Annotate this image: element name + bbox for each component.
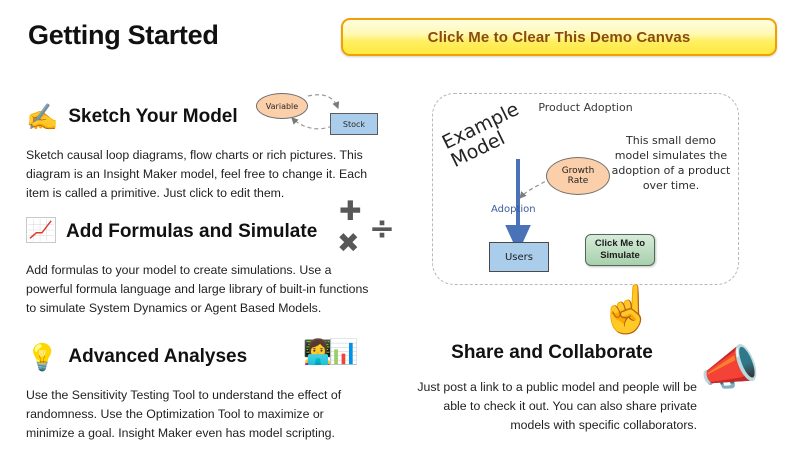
chart-line-icon	[26, 217, 56, 247]
feature-add-formulas-and-simulate: Add Formulas and Simulate Add formulas t…	[26, 215, 386, 318]
page-title: Getting Started	[28, 20, 219, 51]
simulate-label-line2: Simulate	[600, 250, 640, 262]
simulate-button[interactable]: Click Me to Simulate	[585, 234, 655, 266]
mini-diagram-stock-node[interactable]: Stock	[330, 113, 378, 135]
growth-rate-label-line1: Growth	[562, 166, 595, 176]
feature-formulas-body: Add formulas to your model to create sim…	[26, 261, 371, 318]
megaphone-icon: 📣	[700, 345, 760, 393]
pointing-up-hand-icon: ☝️	[598, 286, 655, 332]
writing-hand-icon: ✍️	[26, 104, 58, 130]
mini-diagram-stock-label: Stock	[343, 120, 365, 129]
mini-diagram-variable-label: Variable	[266, 102, 298, 111]
growth-rate-label-line2: Rate	[568, 176, 589, 186]
clear-demo-canvas-button[interactable]: Click Me to Clear This Demo Canvas	[341, 18, 777, 56]
divide-icon: ÷	[369, 214, 395, 245]
clear-demo-canvas-label: Click Me to Clear This Demo Canvas	[428, 29, 691, 46]
users-stock-label: Users	[505, 252, 533, 263]
feature-sketch-body: Sketch causal loop diagrams, flow charts…	[26, 146, 371, 203]
adoption-flow-label: Adoption	[491, 204, 536, 215]
model-canvas[interactable]: Product Adoption Example Model This smal…	[432, 93, 739, 285]
feature-analyses-body: Use the Sensitivity Testing Tool to unde…	[26, 386, 371, 443]
mini-sketch-diagram: Variable Stock	[250, 88, 380, 143]
feature-share-title: Share and Collaborate	[407, 342, 697, 364]
cloud-source-icon: ☁	[505, 144, 523, 162]
growth-rate-variable-node[interactable]: Growth Rate	[546, 157, 610, 195]
math-symbols-group: ✚ ✖ ÷	[333, 198, 403, 260]
simulate-label-line1: Click Me to	[595, 238, 645, 250]
plus-icon: ✚	[339, 198, 362, 225]
feature-formulas-header: Add Formulas and Simulate	[26, 215, 386, 249]
times-icon: ✖	[337, 230, 360, 257]
feature-analyses-title: Advanced Analyses	[68, 346, 247, 368]
users-stock-node[interactable]: Users	[489, 242, 549, 272]
mini-diagram-variable-node[interactable]: Variable	[256, 93, 308, 119]
model-canvas-title: Product Adoption	[433, 101, 738, 114]
lightbulb-icon: 💡	[26, 344, 58, 370]
model-description-text: This small demo model simulates the adop…	[611, 134, 731, 193]
person-at-computer-icon: 👩‍💻	[303, 339, 329, 366]
feature-share-and-collaborate: Share and Collaborate Just post a link t…	[407, 342, 697, 435]
feature-share-body: Just post a link to a public model and p…	[407, 378, 697, 435]
analyses-icon-group: 👩‍💻📊	[303, 338, 355, 367]
feature-sketch-title: Sketch Your Model	[68, 106, 237, 128]
chart-line-icon-svg	[26, 217, 56, 243]
feature-formulas-title: Add Formulas and Simulate	[66, 221, 317, 243]
bar-chart-icon: 📊	[329, 339, 355, 366]
